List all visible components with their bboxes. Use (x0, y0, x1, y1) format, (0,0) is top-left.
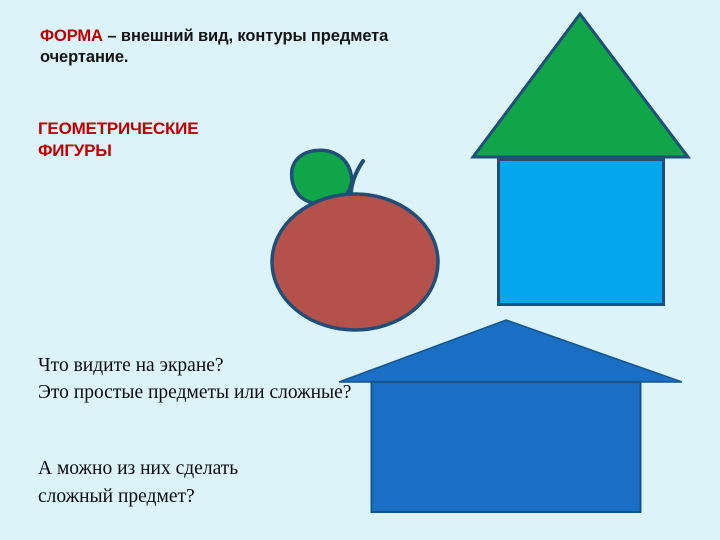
question-line-3: А можно из них сделать (38, 455, 378, 483)
subtitle-line1: ГЕОМЕТРИЧЕСКИЕ (38, 118, 318, 140)
question-group-1: Что видите на экране? Это простые предме… (38, 353, 468, 406)
question-line-1: Что видите на экране? (38, 353, 468, 380)
definition-title: ФОРМА – внешний вид, контуры предмета оч… (40, 26, 510, 68)
definition-keyword: ФОРМА (40, 27, 103, 45)
question-line-4: сложный предмет? (38, 483, 378, 511)
question-group-2: А можно из них сделать сложный предмет? (38, 455, 378, 510)
slide-canvas: ФОРМА – внешний вид, контуры предмета оч… (0, 0, 720, 540)
text-layer: ФОРМА – внешний вид, контуры предмета оч… (0, 0, 720, 540)
question-line-2: Это простые предметы или сложные? (38, 380, 468, 407)
definition-line2: очертание. (40, 47, 510, 68)
subtitle-line2: ФИГУРЫ (38, 140, 318, 162)
subtitle-heading: ГЕОМЕТРИЧЕСКИЕ ФИГУРЫ (38, 118, 318, 162)
definition-rest: – внешний вид, контуры предмета (103, 27, 388, 45)
